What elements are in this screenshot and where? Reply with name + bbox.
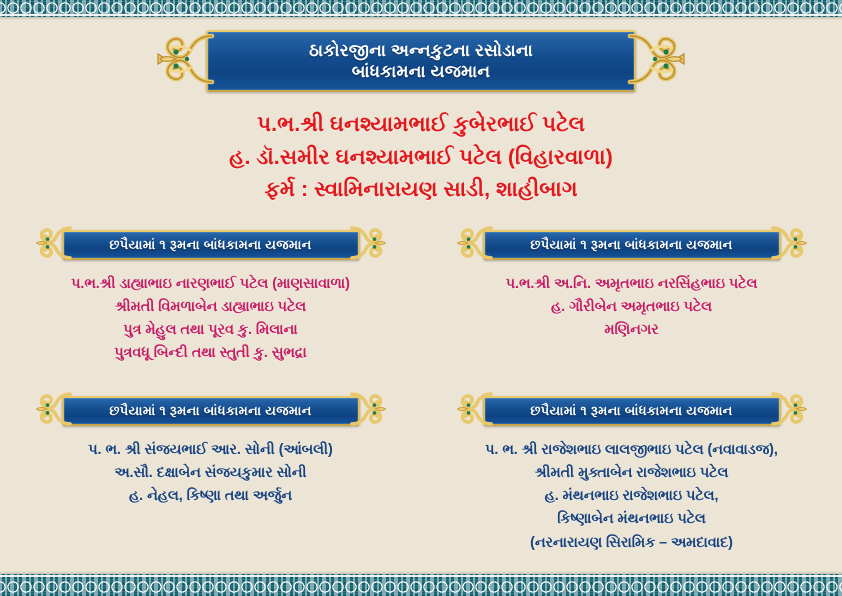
section-banner-top-left: છપૈયામાં ૧ રૂમના બાંધકામના યજમાન (0, 228, 421, 262)
invitation-poster: ઠાકોરજીના અન્નકુટના રસોડાના બાંધકામના યજ… (0, 0, 842, 596)
section-banner-label: છપૈયામાં ૧ રૂમના બાંધકામના યજમાન (109, 403, 311, 420)
filigree-ornament-left-icon (34, 223, 74, 268)
section-banner-label: છપૈયામાં ૧ રૂમના બાંધકામના યજમાન (530, 237, 732, 254)
section-banner-ribbon: છપૈયામાં ૧ રૂમના બાંધકામના યજમાન (62, 230, 360, 260)
section-line: મણિનગર (421, 319, 842, 342)
filigree-ornament-right-icon (348, 223, 388, 268)
section-line: પ. ભ. શ્રી સંજયભાઈ આર. સોની (આંબલી) (0, 439, 421, 462)
section-line: શ્રીમતી વિમળાબેન ડાહ્યાભાઇ પટેલ (0, 296, 421, 319)
section-top-left: છપૈયામાં ૧ રૂમના બાંધકામના યજમાન પ.ભ.શ્ર… (0, 228, 421, 366)
section-banner-top-right: છપૈયામાં ૧ રૂમના બાંધકામના યજમાન (421, 228, 842, 262)
title-banner-ribbon: ઠાકોરજીના અન્નકુટના રસોડાના બાંધકામના યજ… (206, 30, 636, 92)
main-heading-line-1: પ.ભ.શ્રી ઘનશ્યામભાઈ કુબેરભાઈ પટેલ (0, 108, 842, 141)
section-line: પ.ભ.શ્રી અ.નિ. અમૃતભાઇ નરસિંહભાઇ પટેલ (421, 273, 842, 296)
section-banner-ribbon: છપૈયામાં ૧ રૂમના બાંધકામના યજમાન (483, 230, 781, 260)
main-heading-line-2: હ. ડૉ.સમીર ઘનશ્યામભાઈ પટેલ (વિહારવાળા) (0, 141, 842, 174)
section-line: પુત્રવધૂ બિન્દી તથા સ્તુતી કુ. સુભદ્રા (0, 342, 421, 365)
section-banner-ribbon: છપૈયામાં ૧ રૂમના બાંધકામના યજમાન (483, 396, 781, 426)
section-banner-bottom-left: છપૈયામાં ૧ રૂમના બાંધકામના યજમાન (0, 394, 421, 428)
section-banner-bottom-right: છપૈયામાં ૧ રૂમના બાંધકામના યજમાન (421, 394, 842, 428)
section-line: કિષ્ણાબેન મંથનભાઇ પટેલ (421, 508, 842, 531)
section-line: હ. ગૌરીબેન અમૃતભાઇ પટેલ (421, 296, 842, 319)
section-banner-label: છપૈયામાં ૧ રૂમના બાંધકામના યજમાન (530, 403, 732, 420)
section-banner-ribbon: છપૈયામાં ૧ રૂમના બાંધકામના યજમાન (62, 396, 360, 426)
main-heading-line-3: ફર્મ : સ્વામિનારાયણ સાડી, શાહીબાગ (0, 173, 842, 206)
title-banner-line-1: ઠાકોરજીના અન્નકુટના રસોડાના (309, 40, 533, 61)
section-body-bottom-left: પ. ભ. શ્રી સંજયભાઈ આર. સોની (આંબલી) અ.સૌ… (0, 439, 421, 508)
section-top-right: છપૈયામાં ૧ રૂમના બાંધકામના યજમાન પ.ભ.શ્ર… (421, 228, 842, 342)
border-hairline (0, 14, 842, 16)
filigree-ornament-right-icon (769, 389, 809, 434)
section-line: પ.ભ.શ્રી ડાહ્યાભાઇ નારણભાઈ પટેલ (માણસાવા… (0, 273, 421, 296)
section-body-top-left: પ.ભ.શ્રી ડાહ્યાભાઇ નારણભાઈ પટેલ (માણસાવા… (0, 273, 421, 366)
border-hairline (0, 575, 842, 577)
top-border-shadow (0, 17, 842, 20)
filigree-ornament-left-icon (455, 223, 495, 268)
section-bottom-right: છપૈયામાં ૧ રૂમના બાંધકામના યજમાન પ. ભ. શ… (421, 394, 842, 555)
section-line: શ્રીમતી મુક્તાબેન રાજેશભાઇ પટેલ (421, 462, 842, 485)
section-line: પ. ભ. શ્રી રાજેશભાઇ લાલજીભાઇ પટેલ (નવાવા… (421, 439, 842, 462)
section-line: પુત્ર મેહુલ તથા પૂરવ કુ. મિલાના (0, 319, 421, 342)
section-line: હ. મંથનભાઇ રાજેશભાઇ પટેલ, (421, 485, 842, 508)
filigree-ornament-left-icon (455, 389, 495, 434)
filigree-ornament-left-icon (156, 28, 218, 95)
filigree-ornament-right-icon (769, 223, 809, 268)
filigree-ornament-right-icon (624, 28, 686, 95)
title-banner: ઠાકોરજીના અન્નકુટના રસોડાના બાંધકામના યજ… (186, 30, 656, 92)
filigree-ornament-left-icon (34, 389, 74, 434)
section-bottom-left: છપૈયામાં ૧ રૂમના બાંધકામના યજમાન પ. ભ. શ… (0, 394, 421, 508)
section-body-top-right: પ.ભ.શ્રી અ.નિ. અમૃતભાઇ નરસિંહભાઇ પટેલ હ.… (421, 273, 842, 342)
title-banner-line-2: બાંધકામના યજમાન (352, 61, 491, 82)
filigree-ornament-right-icon (348, 389, 388, 434)
section-body-bottom-right: પ. ભ. શ્રી રાજેશભાઇ લાલજીભાઇ પટેલ (નવાવા… (421, 439, 842, 555)
border-scallop-pattern (0, 574, 842, 596)
section-line: (નરનારાયણ સિરામિક – અમદાવાદ) (421, 532, 842, 555)
bottom-decorative-border (0, 574, 842, 596)
main-heading: પ.ભ.શ્રી ઘનશ્યામભાઈ કુબેરભાઈ પટેલ હ. ડૉ.… (0, 108, 842, 206)
section-line: હ. નેહલ, કિષ્ણા તથા અર્જુન (0, 485, 421, 508)
top-decorative-border (0, 0, 842, 17)
section-banner-label: છપૈયામાં ૧ રૂમના બાંધકામના યજમાન (109, 237, 311, 254)
section-line: અ.સૌ. દક્ષાબેન સંજયકુમાર સોની (0, 462, 421, 485)
